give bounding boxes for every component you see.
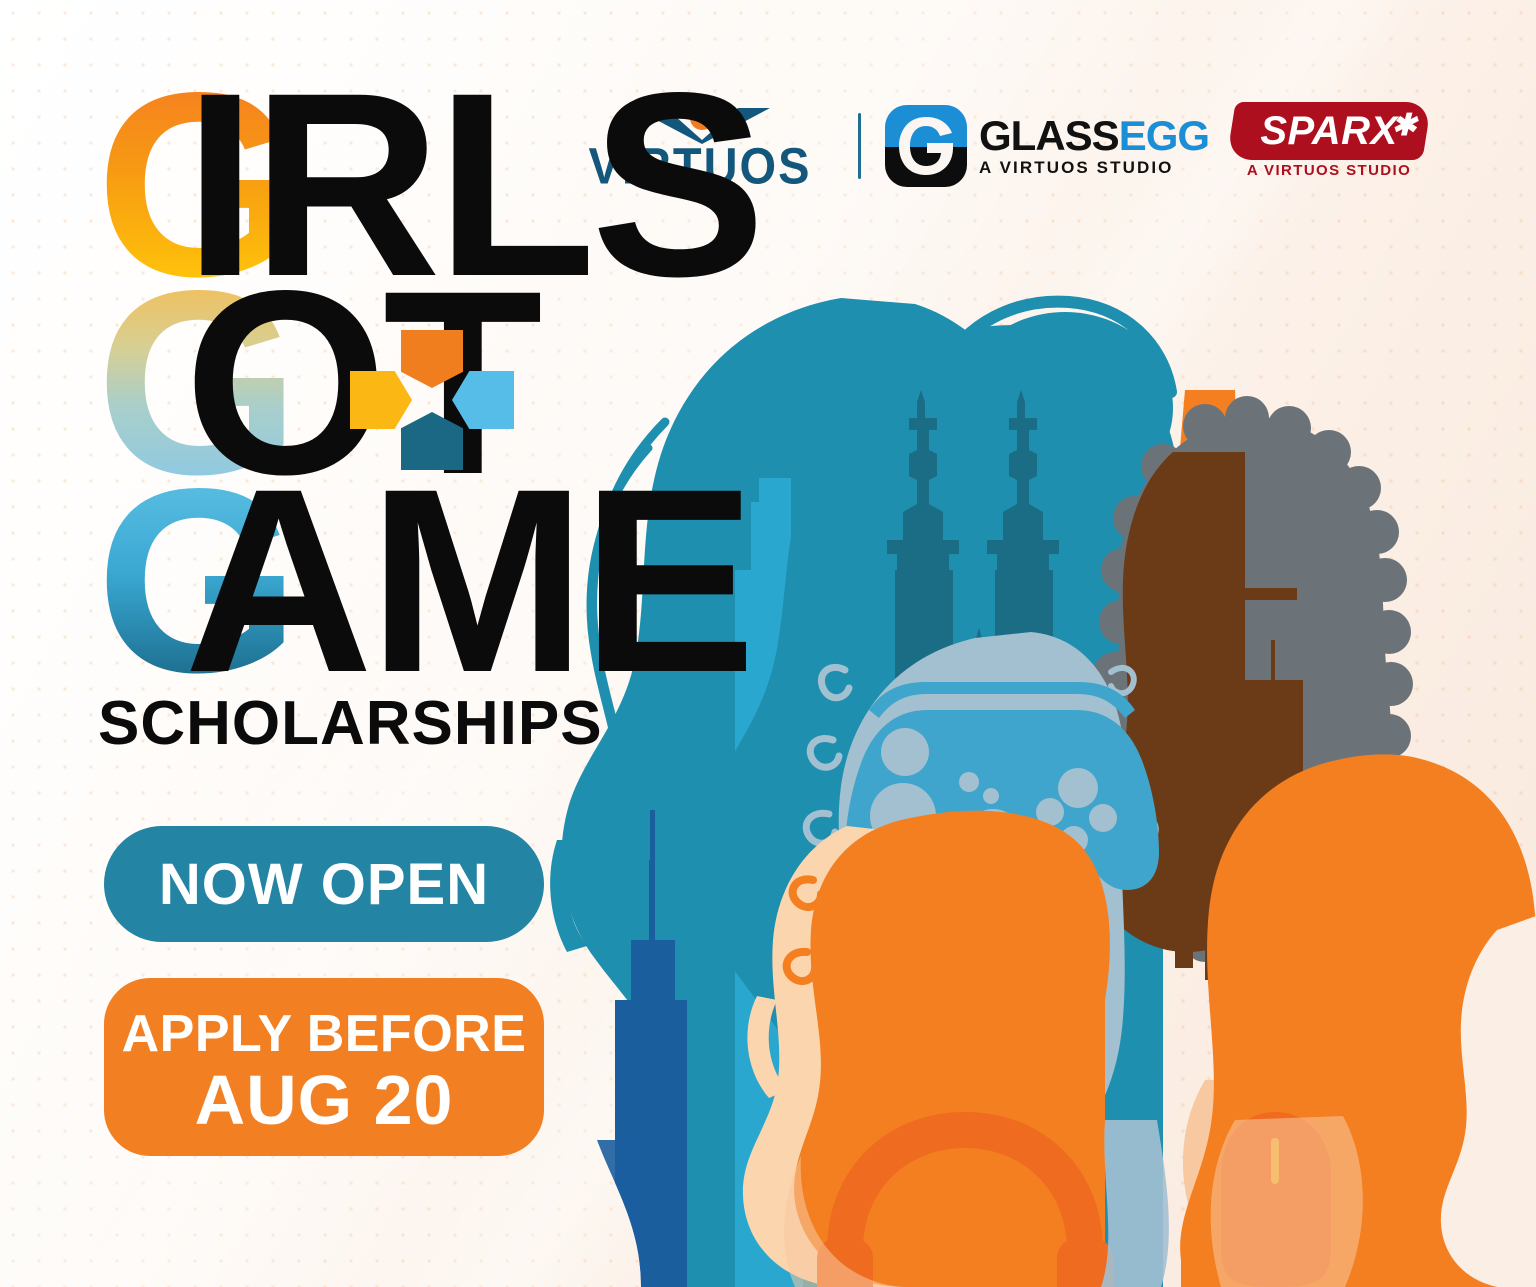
glassegg-g-mark	[885, 105, 967, 187]
lightblue-neck-strip	[1101, 1120, 1169, 1287]
apply-before-button[interactable]: APPLY BEFORE AUG 20	[104, 978, 544, 1156]
dpad-left-segment	[350, 371, 412, 429]
sparx-wordmark: SPARX✱	[1231, 102, 1427, 160]
glassegg-tagline: A VIRTUOS STUDIO	[979, 158, 1209, 178]
dpad-up-segment	[401, 330, 463, 388]
now-open-button[interactable]: NOW OPEN	[104, 826, 544, 942]
poster-canvas: VIRTUOS GLASSEGG A VIRTUOS STUDIO	[0, 0, 1536, 1287]
glassegg-wordmark: GLASSEGG	[979, 116, 1209, 156]
headline-subtitle: SCHOLARSHIPS	[98, 688, 603, 759]
orange-mouse-silhouette	[1180, 754, 1536, 1287]
headline-text-ame: AME	[184, 482, 751, 680]
illustration-artwork	[545, 240, 1536, 1287]
dpad-down-segment	[401, 412, 463, 470]
headline-line-3: G AME	[96, 482, 526, 680]
dpad-icon	[352, 330, 512, 470]
sparx-tagline: A VIRTUOS STUDIO	[1231, 162, 1427, 179]
apply-button-line1: APPLY BEFORE	[122, 1007, 527, 1062]
dpad-right-segment	[452, 371, 514, 429]
orange-headphones-silhouette	[743, 811, 1113, 1287]
sparx-logo[interactable]: SPARX✱ A VIRTUOS STUDIO	[1231, 100, 1431, 192]
glassegg-logo[interactable]: GLASSEGG A VIRTUOS STUDIO	[885, 100, 1215, 192]
logo-divider	[858, 113, 861, 179]
apply-button-line2: AUG 20	[195, 1064, 454, 1138]
sparx-star-icon: ✱	[1391, 108, 1417, 143]
